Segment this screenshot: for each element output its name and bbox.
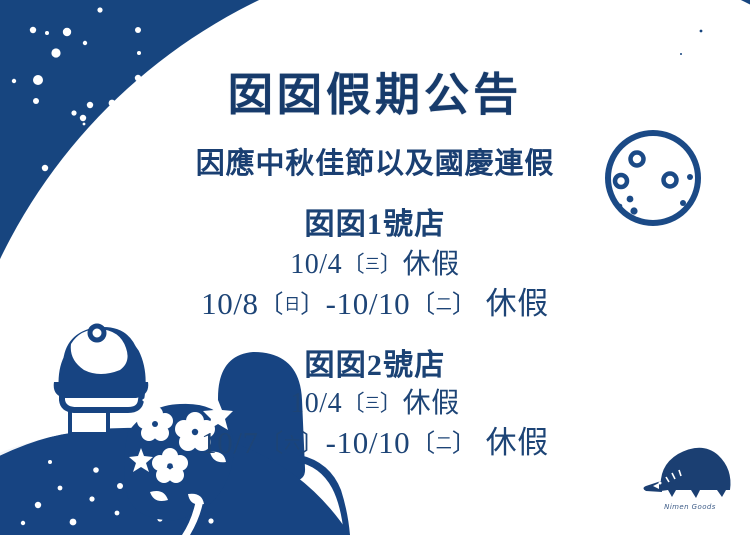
holiday-announcement-poster: 囡囡假期公告 因應中秋佳節以及國慶連假 囡囡1號店 10/4〔三〕休假 10/8… <box>0 0 750 535</box>
poster-illustration <box>0 0 750 535</box>
